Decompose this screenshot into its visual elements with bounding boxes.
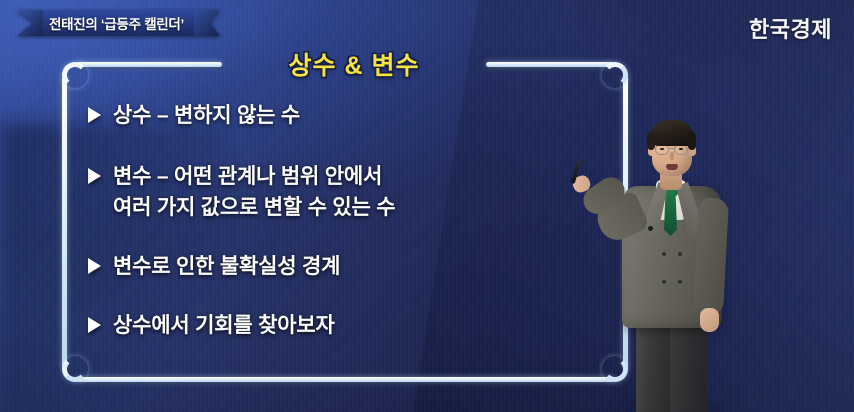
chevron-right-icon [17,10,43,36]
bullet-text: 변수로 인한 불확실성 경계 [113,251,340,282]
program-banner-body: 전태진의 ‘급등주 캘린더’ [43,10,194,36]
jacket-button [678,252,682,256]
presenter-arm-right [693,197,729,314]
presenter-hair-left [647,132,655,150]
chevron-left-icon [194,10,220,36]
jacket-button [662,280,666,284]
slide-panel: 상수 & 변수 상수 – 변하지 않는 수 변수 – 어떤 관계나 범위 안에서… [62,62,628,382]
presenter-nose [670,152,674,160]
presenter-leg-left [636,316,670,412]
jacket-button [678,280,682,284]
presenter-mouth [666,164,678,170]
frame-bottom-segment [76,377,614,382]
lapel-microphone-icon [648,226,653,231]
list-item: 변수로 인한 불확실성 경계 [88,251,618,282]
list-item: 상수 – 변하지 않는 수 [88,100,618,131]
glasses-bridge [669,148,675,149]
list-item: 변수 – 어떤 관계나 범위 안에서 여러 가지 값으로 변할 수 있는 수 [88,161,618,223]
triangle-right-icon [88,107,101,123]
frame-left-segment [62,76,67,368]
bullet-list: 상수 – 변하지 않는 수 변수 – 어떤 관계나 범위 안에서 여러 가지 값… [88,100,618,341]
bullet-text: 변수 – 어떤 관계나 범위 안에서 여러 가지 값으로 변할 수 있는 수 [113,161,395,223]
presenter-figure [600,120,760,412]
slide-title: 상수 & 변수 [62,46,628,82]
presenter-tie [664,190,677,236]
frame-corner-bottom-left [62,356,88,382]
bullet-text: 상수에서 기회를 찾아보자 [113,310,335,341]
jacket-button [662,252,666,256]
triangle-right-icon [88,258,101,274]
program-banner: 전태진의 ‘급등주 캘린더’ [17,10,220,36]
presenter-hair-right [688,132,696,150]
triangle-right-icon [88,317,101,333]
bullet-text: 상수 – 변하지 않는 수 [113,100,300,131]
channel-logo: 한국경제 [749,12,832,44]
presenter-leg-right [670,316,708,412]
list-item: 상수에서 기회를 찾아보자 [88,310,618,341]
presenter-hand-right [700,308,719,332]
triangle-right-icon [88,168,101,184]
slide-title-text: 상수 & 변수 [208,46,500,82]
program-title: 전태진의 ‘급등주 캘린더’ [49,13,184,33]
